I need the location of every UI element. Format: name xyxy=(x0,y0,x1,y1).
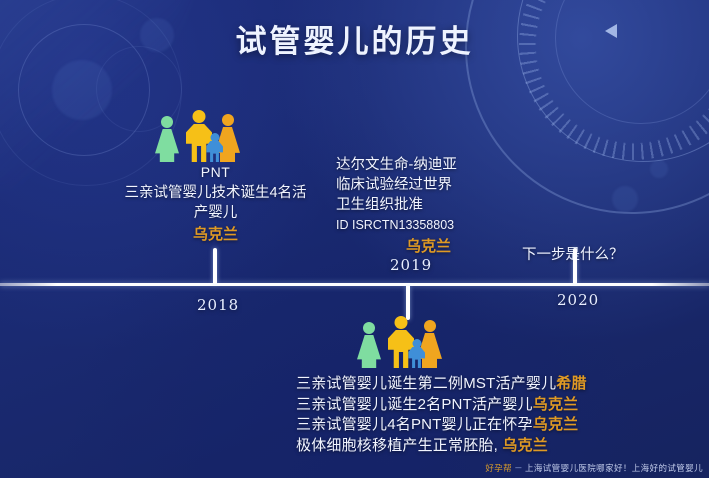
family-figures-icon-top xyxy=(155,104,243,162)
result-text: 三亲试管婴儿4名PNT婴儿正在怀孕 xyxy=(296,416,533,433)
timeline-tick-2018 xyxy=(213,248,217,284)
result-text: 三亲试管婴儿诞生2名PNT活产婴儿 xyxy=(296,396,533,413)
darwin-country: 乌克兰 xyxy=(336,237,521,257)
watermark-separator: － xyxy=(514,463,523,473)
event-block-darwin: 达尔文生命-纳迪亚 临床试验经过世界 卫生组织批准 ID ISRCTN13358… xyxy=(336,155,521,257)
watermark-brand: 好孕帮 xyxy=(485,463,512,473)
darwin-line-1: 达尔文生命-纳迪亚 xyxy=(336,155,521,175)
pnt-line-2: 产婴儿 xyxy=(108,203,323,223)
timeline-axis xyxy=(0,283,709,286)
figure-woman-green xyxy=(155,116,179,162)
darwin-trial-id: ID ISRCTN13358803 xyxy=(336,215,521,235)
timeline-year-2019: 2019 xyxy=(390,256,432,274)
timeline-year-2018: 2018 xyxy=(197,296,239,314)
darwin-line-3: 卫生组织批准 xyxy=(336,195,521,215)
background-bubble-decoration xyxy=(52,60,112,120)
page-title: 试管婴儿的历史 xyxy=(0,16,709,61)
event-block-pnt: PNT 三亲试管婴儿技术诞生4名活 产婴儿 乌克兰 xyxy=(108,162,323,245)
watermark-text: 上海试管婴儿医院哪家好！上海好的试管婴儿 xyxy=(525,463,703,473)
watermark: 好孕帮－上海试管婴儿医院哪家好！上海好的试管婴儿 xyxy=(485,462,703,474)
background-bubble-decoration xyxy=(612,186,638,212)
background-bubble-decoration xyxy=(650,160,668,178)
result-country: 乌克兰 xyxy=(502,437,548,454)
figure-child-blue xyxy=(408,339,425,368)
result-row: 三亲试管婴儿诞生2名PNT活产婴儿乌克兰 xyxy=(296,395,587,415)
result-row: 极体细胞核移植产生正常胚胎, 乌克兰 xyxy=(296,436,587,456)
slide-canvas: 试管婴儿的历史 PNT 三亲试管婴儿技术诞生4名活 产婴儿 乌克兰 达尔文生命-… xyxy=(0,0,709,478)
result-row: 三亲试管婴儿4名PNT婴儿正在怀孕乌克兰 xyxy=(296,415,587,435)
pnt-heading: PNT xyxy=(108,162,323,182)
figure-woman-green xyxy=(357,322,381,368)
result-country: 乌克兰 xyxy=(533,396,579,413)
pnt-country: 乌克兰 xyxy=(108,225,323,245)
result-row: 三亲试管婴儿诞生第二例MST活产婴儿希腊 xyxy=(296,374,587,394)
results-list: 三亲试管婴儿诞生第二例MST活产婴儿希腊 三亲试管婴儿诞生2名PNT活产婴儿乌克… xyxy=(296,374,587,456)
result-country: 希腊 xyxy=(556,375,586,392)
figure-child-blue xyxy=(206,133,223,162)
timeline-year-2020: 2020 xyxy=(557,291,599,309)
result-text: 极体细胞核移植产生正常胚胎, xyxy=(296,437,498,454)
result-text: 三亲试管婴儿诞生第二例MST活产婴儿 xyxy=(296,375,556,392)
family-figures-icon-bottom xyxy=(357,310,445,368)
pnt-line-1: 三亲试管婴儿技术诞生4名活 xyxy=(108,183,323,203)
result-country: 乌克兰 xyxy=(533,416,579,433)
timeline-tick-2020 xyxy=(573,248,577,284)
darwin-line-2: 临床试验经过世界 xyxy=(336,175,521,195)
